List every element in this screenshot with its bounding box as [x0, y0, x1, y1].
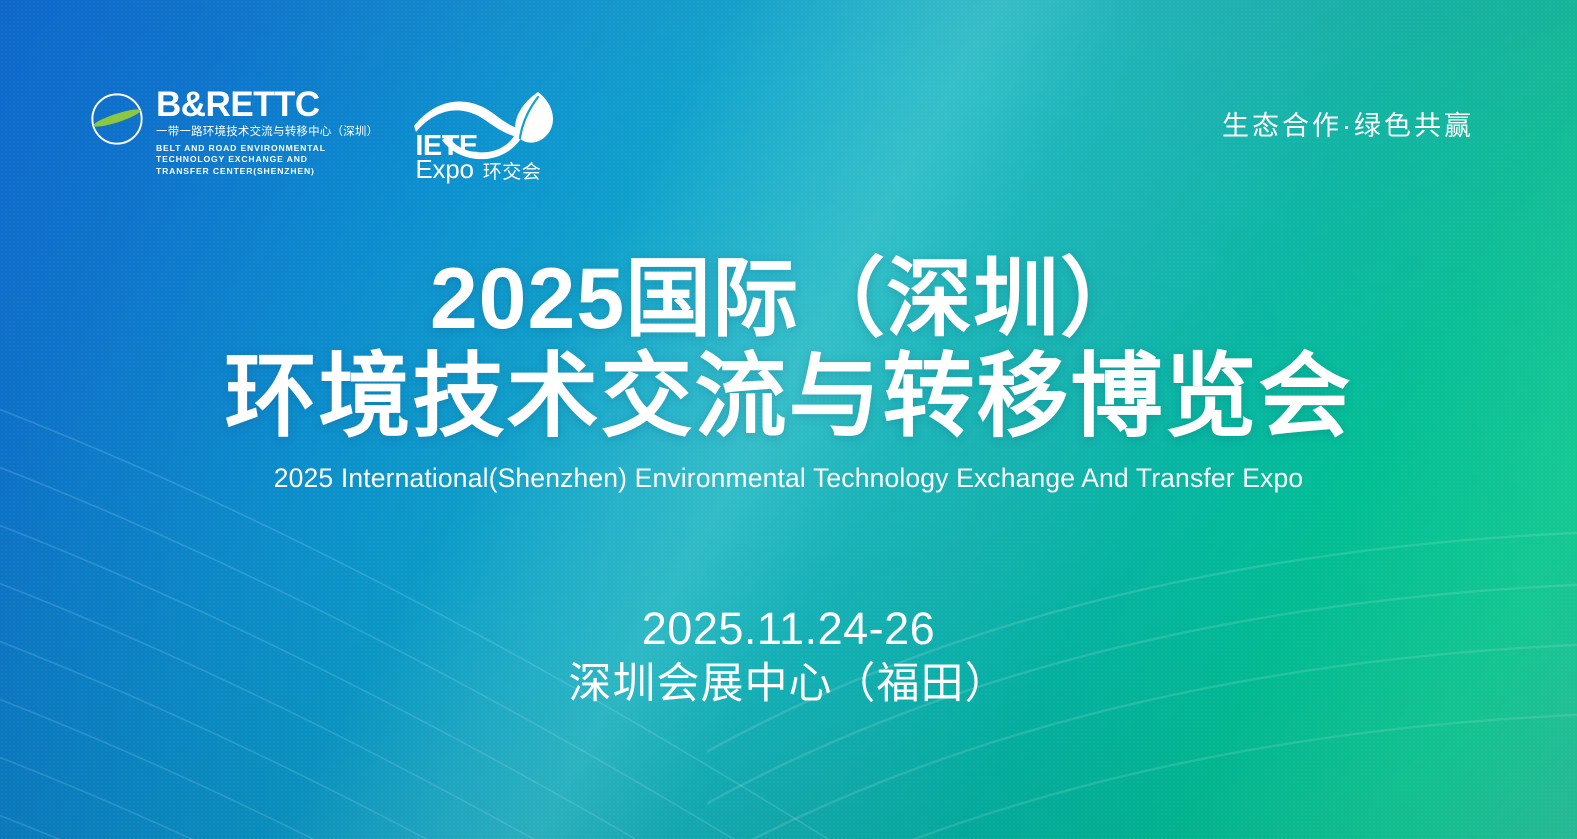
- event-date: 2025.11.24-26: [0, 602, 1577, 655]
- headline-line-1: 2025国际（深圳）: [0, 256, 1577, 344]
- brettc-logo[interactable]: B&RETTC 一带一路环境技术交流与转移中心（深圳） BELT AND ROA…: [88, 86, 378, 178]
- event-details-block: 2025.11.24-26 深圳会展中心（福田）: [0, 602, 1577, 711]
- globe-circle-mark-icon: [88, 90, 146, 148]
- headline-block: 2025国际（深圳） 环境技术交流与转移博览会 2025 Internation…: [0, 256, 1577, 495]
- headline-line-2: 环境技术交流与转移博览会: [0, 348, 1577, 447]
- headline-english: 2025 International(Shenzhen) Environment…: [0, 463, 1577, 495]
- event-venue: 深圳会展中心（福田）: [0, 659, 1577, 711]
- brettc-english-name: BELT AND ROAD ENVIRONMENTAL TECHNOLOGY E…: [156, 143, 361, 179]
- event-banner: B&RETTC 一带一路环境技术交流与转移中心（深圳） BELT AND ROA…: [0, 0, 1577, 839]
- logo-row: B&RETTC 一带一路环境技术交流与转移中心（深圳） BELT AND ROA…: [88, 86, 564, 184]
- iete-chinese-label: 环交会: [483, 163, 542, 182]
- iete-line2: Expo: [415, 156, 473, 182]
- brettc-wordmark: B&RETTC: [156, 87, 378, 122]
- brettc-chinese-name: 一带一路环境技术交流与转移中心（深圳）: [156, 125, 378, 141]
- iete-expo-logo[interactable]: IETE Expo 环交会: [412, 88, 564, 184]
- slogan: 生态合作·绿色共赢: [1222, 104, 1474, 143]
